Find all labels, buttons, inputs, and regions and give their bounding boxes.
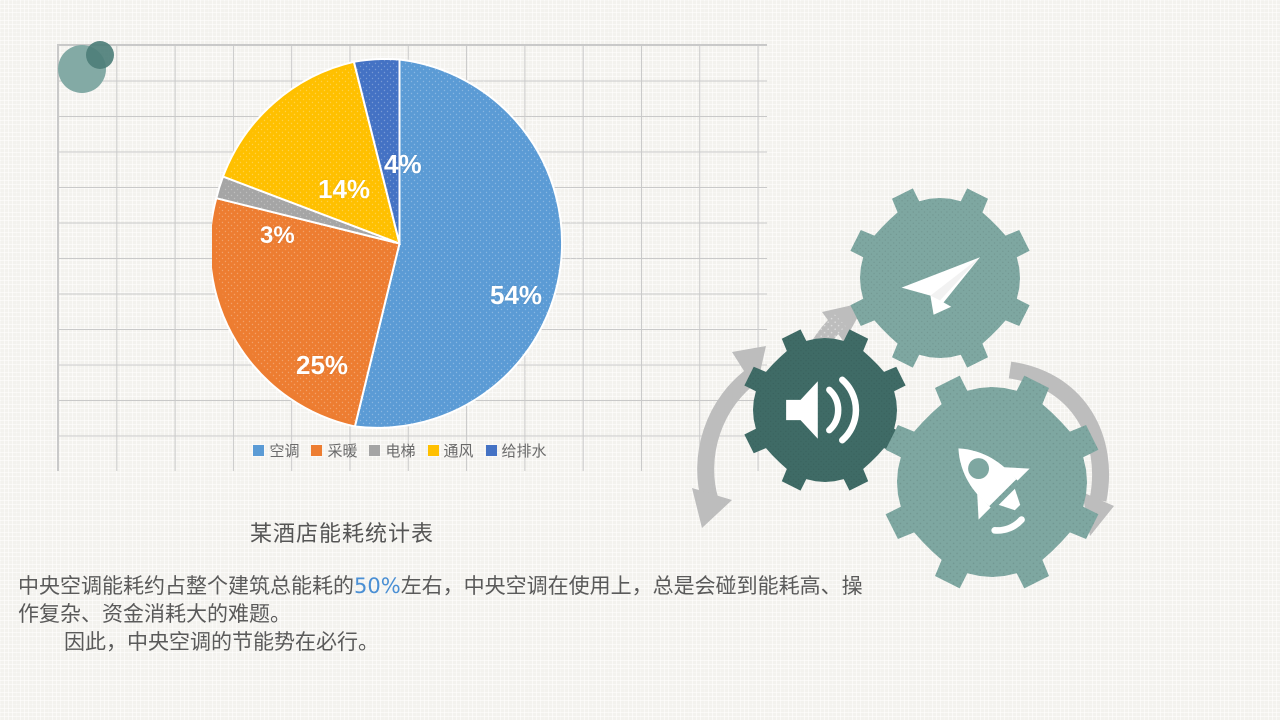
gear-paper-plane[interactable] — [850, 188, 1029, 367]
legend-item-tongfeng[interactable]: 通风 — [428, 440, 474, 461]
body-text-highlight: 50% — [354, 574, 401, 598]
logo-circle-small — [86, 41, 114, 69]
body-text-part1: 中央空调能耗约占整个建筑总能耗的 — [18, 574, 354, 598]
legend-swatch-cainuan — [311, 445, 322, 456]
legend-label-tongfeng: 通风 — [444, 440, 474, 461]
body-text-line2: 因此，中央空调的节能势在必行。 — [18, 628, 868, 656]
gear-rocket[interactable] — [886, 376, 1099, 589]
chart-title: 某酒店能耗统计表 — [250, 516, 434, 548]
legend-item-kongtiao[interactable]: 空调 — [253, 440, 299, 461]
legend-item-dianti[interactable]: 电梯 — [369, 440, 415, 461]
legend-label-dianti: 电梯 — [385, 440, 415, 461]
pie-value-label-dianti: 3% — [260, 222, 295, 250]
legend-swatch-dianti — [369, 445, 380, 456]
legend-label-kongtiao: 空调 — [269, 440, 299, 461]
gears-svg — [690, 170, 1120, 600]
legend-item-geipaishui[interactable]: 给排水 — [486, 440, 547, 461]
legend-swatch-geipaishui — [486, 445, 497, 456]
gear-megaphone[interactable] — [744, 329, 905, 490]
gears-illustration — [690, 170, 1120, 600]
pie-value-label-kongtiao: 54% — [490, 280, 542, 311]
legend-swatch-tongfeng — [428, 445, 439, 456]
pie-value-label-tongfeng: 14% — [318, 174, 370, 205]
legend-item-cainuan[interactable]: 采暖 — [311, 440, 357, 461]
pie-value-label-geipaishui: 4% — [384, 149, 422, 180]
pie-chart: 54% 25% 3% 14% 4% 空调 采暖 电梯 通风 — [190, 44, 610, 544]
legend-label-cainuan: 采暖 — [327, 440, 357, 461]
logo-mark — [58, 41, 116, 91]
legend-swatch-kongtiao — [253, 445, 264, 456]
pie-value-label-cainuan: 25% — [296, 350, 348, 381]
legend-label-geipaishui: 给排水 — [502, 440, 547, 461]
chart-legend: 空调 采暖 电梯 通风 给排水 — [190, 440, 610, 461]
slide-canvas: 54% 25% 3% 14% 4% 空调 采暖 电梯 通风 — [0, 0, 1280, 720]
pie-chart-graphic: 54% 25% 3% 14% 4% — [212, 56, 587, 431]
